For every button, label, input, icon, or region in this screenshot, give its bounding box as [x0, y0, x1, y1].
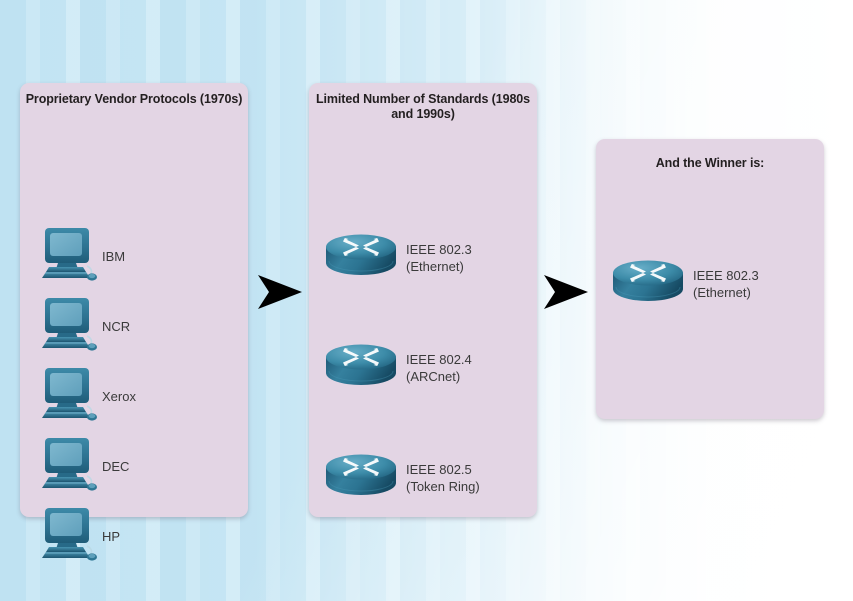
- desktop-computer-icon: [42, 295, 98, 355]
- list-item[interactable]: IBM: [42, 225, 242, 287]
- router-icon: [323, 341, 399, 393]
- router-icon: [610, 257, 686, 309]
- router-icon: [323, 451, 399, 503]
- desktop-computer-icon: [42, 225, 98, 285]
- list-item[interactable]: IEEE 802.4 (ARCnet): [323, 341, 535, 395]
- list-item[interactable]: IEEE 802.5 (Token Ring): [323, 451, 535, 505]
- desktop-computer-icon: [42, 365, 98, 425]
- list-item-label: HP: [102, 528, 120, 545]
- list-item-label: Xerox: [102, 388, 136, 405]
- list-item-label: IEEE 802.5 (Token Ring): [406, 461, 480, 495]
- list-item-label: DEC: [102, 458, 129, 475]
- diagram-canvas: Proprietary Vendor Protocols (1970s): [0, 0, 853, 601]
- right-arrow-icon: [542, 272, 590, 312]
- desktop-computer-icon: [42, 505, 98, 565]
- panel-proprietary-vendor-protocols: Proprietary Vendor Protocols (1970s): [20, 83, 248, 517]
- list-item[interactable]: IEEE 802.3 (Ethernet): [323, 231, 535, 285]
- list-item[interactable]: IEEE 802.3 (Ethernet): [610, 257, 822, 311]
- list-item-label: IBM: [102, 248, 125, 265]
- list-item[interactable]: DEC: [42, 435, 242, 497]
- list-item-label: IEEE 802.4 (ARCnet): [406, 351, 472, 385]
- right-arrow-icon: [256, 272, 304, 312]
- list-item-label: IEEE 802.3 (Ethernet): [693, 267, 759, 301]
- list-item-label: IEEE 802.3 (Ethernet): [406, 241, 472, 275]
- panel-title: And the Winner is:: [596, 156, 824, 171]
- panel-and-the-winner-is: And the Winner is:: [596, 139, 824, 419]
- desktop-computer-icon: [42, 435, 98, 495]
- panel-limited-number-of-standards: Limited Number of Standards (1980s and 1…: [309, 83, 537, 517]
- router-icon: [323, 231, 399, 283]
- list-item[interactable]: HP: [42, 505, 242, 567]
- list-item[interactable]: Xerox: [42, 365, 242, 427]
- panel-title: Limited Number of Standards (1980s and 1…: [309, 92, 537, 122]
- panel-title: Proprietary Vendor Protocols (1970s): [20, 92, 248, 107]
- list-item-label: NCR: [102, 318, 130, 335]
- list-item[interactable]: NCR: [42, 295, 242, 357]
